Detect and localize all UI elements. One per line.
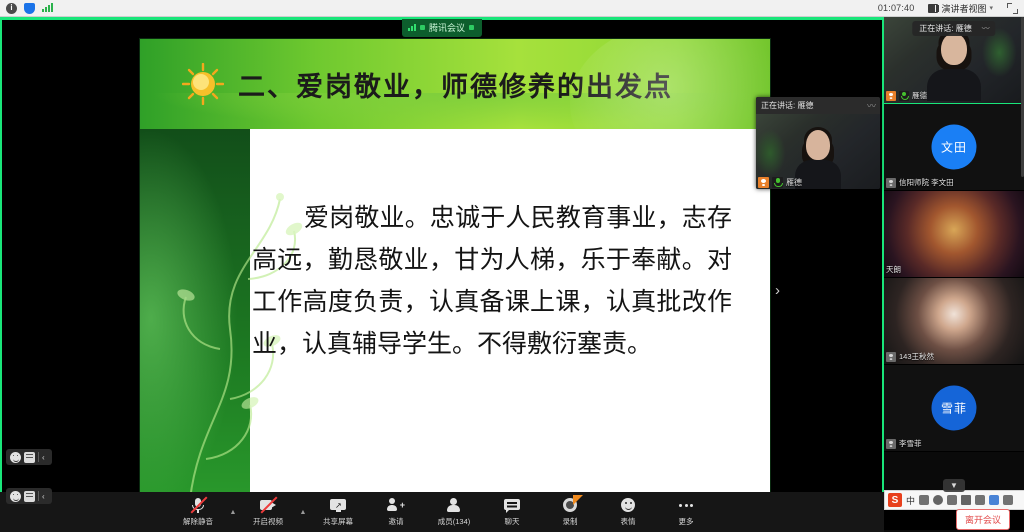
more-icon [677, 497, 695, 513]
comma-icon[interactable] [919, 495, 929, 505]
emoji-button[interactable]: 表情 [599, 492, 657, 532]
more-label: 更多 [679, 516, 694, 527]
divider [38, 491, 39, 501]
emoji-icon [619, 497, 637, 513]
invite-label: 邀请 [389, 516, 404, 527]
emoji-label: 表情 [621, 516, 636, 527]
record-button[interactable]: 录制 [541, 492, 599, 532]
speaker-view-button[interactable]: 演讲者视图 ▾ [924, 0, 997, 17]
mic-icon[interactable] [947, 495, 957, 505]
pip-speaking-label: 正在讲话: 雁德 [761, 100, 813, 111]
avatar: 文田 [932, 125, 977, 170]
participant-name: 李雪菲 [899, 438, 922, 449]
pip-footer: 雁德 [756, 175, 802, 189]
participant-name-row: 天朗 [886, 264, 901, 275]
next-slide-icon[interactable]: › [775, 282, 780, 299]
signal-icon [408, 24, 416, 31]
pip-name-label: 雁德 [786, 177, 802, 188]
unmute-label: 解除静音 [183, 516, 213, 527]
toolbox-icon[interactable] [975, 495, 985, 505]
start-video-label: 开启视频 [253, 516, 283, 527]
floating-reaction-bar-1[interactable]: ‹ [6, 449, 52, 465]
participant-name-row: 雁德 [886, 90, 927, 101]
divider [38, 452, 39, 462]
participant-tile[interactable]: 文田 信阳师院 李文田 [884, 104, 1024, 191]
avatar [758, 177, 769, 188]
layout-icon [928, 4, 938, 13]
invite-button[interactable]: + 邀请 [367, 492, 425, 532]
chat-icon [503, 497, 521, 513]
slide-header-band: 二、爱岗敬业，师德修养的出发点 [140, 39, 770, 129]
speaker-view-label: 演讲者视图 [941, 2, 986, 15]
participant-tile[interactable]: 天朗 [884, 191, 1024, 278]
pip-header: 正在讲话: 雁德 〰 [756, 97, 880, 114]
smile-icon[interactable] [10, 491, 21, 502]
participant-name: 143王秋然 [899, 351, 934, 362]
smile-icon[interactable] [10, 452, 21, 463]
more-button[interactable]: 更多 [657, 492, 715, 532]
chevron-left-icon[interactable]: ‹ [42, 453, 45, 462]
shield-icon[interactable] [24, 3, 35, 14]
fullscreen-icon[interactable] [1007, 3, 1018, 14]
participant-name-row: 李雪菲 [886, 438, 922, 449]
keyboard-icon[interactable] [961, 495, 971, 505]
info-icon[interactable] [6, 3, 17, 14]
camera-muted-icon [259, 497, 277, 513]
microphone-icon [899, 91, 909, 101]
settings-icon[interactable] [1003, 495, 1013, 505]
participant-name-row: 143王秋然 [886, 351, 934, 362]
status-dot-icon [469, 25, 474, 30]
participant-name: 天朗 [886, 264, 901, 275]
browser-top-bar: 01:07:40 演讲者视图 ▾ [0, 0, 1024, 17]
members-label: 成员(134) [438, 516, 471, 527]
browser-right-controls: 01:07:40 演讲者视图 ▾ [878, 0, 1024, 17]
video-options-caret[interactable]: ▲ [297, 492, 309, 532]
chat-icon[interactable] [24, 491, 35, 502]
unmute-options-caret[interactable]: ▲ [227, 492, 239, 532]
shared-slide: 二、爱岗敬业，师德修养的出发点 爱岗敬业。忠诚于人民教育事业，志存高远，勤恳敬业… [140, 39, 770, 504]
smiley-icon[interactable] [933, 495, 943, 505]
browser-left-icons [0, 3, 53, 14]
leave-meeting-button[interactable]: 离开会议 [956, 509, 1010, 530]
chevron-left-icon[interactable]: ‹ [42, 492, 45, 501]
record-label: 录制 [563, 516, 578, 527]
participant-name: 雁德 [912, 90, 927, 101]
avatar [886, 439, 896, 449]
chat-icon[interactable] [24, 452, 35, 463]
start-video-button[interactable]: 开启视频 [239, 492, 297, 532]
record-icon [561, 497, 579, 513]
invite-icon: + [387, 497, 405, 513]
app-icon [420, 25, 425, 30]
participant-name-row: 信阳师院 李文田 [886, 177, 954, 188]
avatar [886, 352, 896, 362]
ime-mode-label[interactable]: 中 [906, 494, 915, 507]
app-root: 01:07:40 演讲者视图 ▾ 腾讯会议 [0, 0, 1024, 532]
person-silhouette [928, 31, 980, 101]
share-screen-label: 共享屏幕 [323, 516, 353, 527]
rail-scroll-down-button[interactable]: ▼ [943, 479, 965, 492]
pip-video: 雁德 [756, 114, 880, 189]
avatar-photo [884, 191, 1024, 277]
members-icon [445, 497, 463, 513]
umbrella-icon[interactable] [989, 495, 999, 505]
wave-icon: 〰 [867, 99, 875, 112]
participant-name: 信阳师院 李文田 [899, 177, 954, 188]
floating-speaker-window[interactable]: 正在讲话: 雁德 〰 雁德 [756, 97, 880, 189]
microphone-icon [772, 177, 783, 188]
meeting-toolbar: 解除静音 ▲ 开启视频 ▲ ↗ 共享屏幕 + 邀请 [0, 492, 884, 532]
mic-muted-icon [189, 497, 207, 513]
chevron-down-icon[interactable]: ▾ [989, 4, 993, 12]
rail-speaking-banner: 正在讲话: 雁德 〰 [912, 21, 995, 36]
share-screen-button[interactable]: ↗ 共享屏幕 [309, 492, 367, 532]
rail-speaking-label: 正在讲话: 雁德 [919, 23, 971, 34]
avatar: 雪菲 [932, 386, 977, 431]
unmute-button[interactable]: 解除静音 [169, 492, 227, 532]
participant-tile[interactable]: 143王秋然 [884, 278, 1024, 365]
ime-toolbar[interactable]: S 中 [884, 490, 1024, 510]
participant-rail[interactable]: 正在讲话: 雁德 〰 雁德 文田 信阳师院 李文田 [884, 17, 1024, 494]
wave-icon: 〰 [982, 23, 989, 34]
share-screen-icon: ↗ [329, 497, 347, 513]
floating-reaction-bar-2[interactable]: ‹ [6, 488, 52, 504]
share-badge: 腾讯会议 [402, 19, 482, 37]
sun-icon [182, 63, 224, 105]
participant-tile[interactable]: 雪菲 李雪菲 [884, 365, 1024, 452]
chat-label: 聊天 [505, 516, 520, 527]
sogou-logo-icon[interactable]: S [888, 493, 902, 507]
chat-button[interactable]: 聊天 [483, 492, 541, 532]
signal-icon [42, 3, 53, 14]
share-badge-label: 腾讯会议 [429, 21, 465, 34]
slide-body-text: 爱岗敬业。忠诚于人民教育事业，志存高远，勤恳敬业，甘为人梯，乐于奉献。对工作高度… [252, 197, 732, 365]
avatar [886, 91, 896, 101]
avatar [886, 178, 896, 188]
slide-title: 二、爱岗敬业，师德修养的出发点 [238, 65, 673, 104]
members-button[interactable]: 成员(134) [425, 492, 483, 532]
meeting-timer: 01:07:40 [878, 3, 915, 13]
meeting-stage: 腾讯会议 [0, 17, 884, 532]
